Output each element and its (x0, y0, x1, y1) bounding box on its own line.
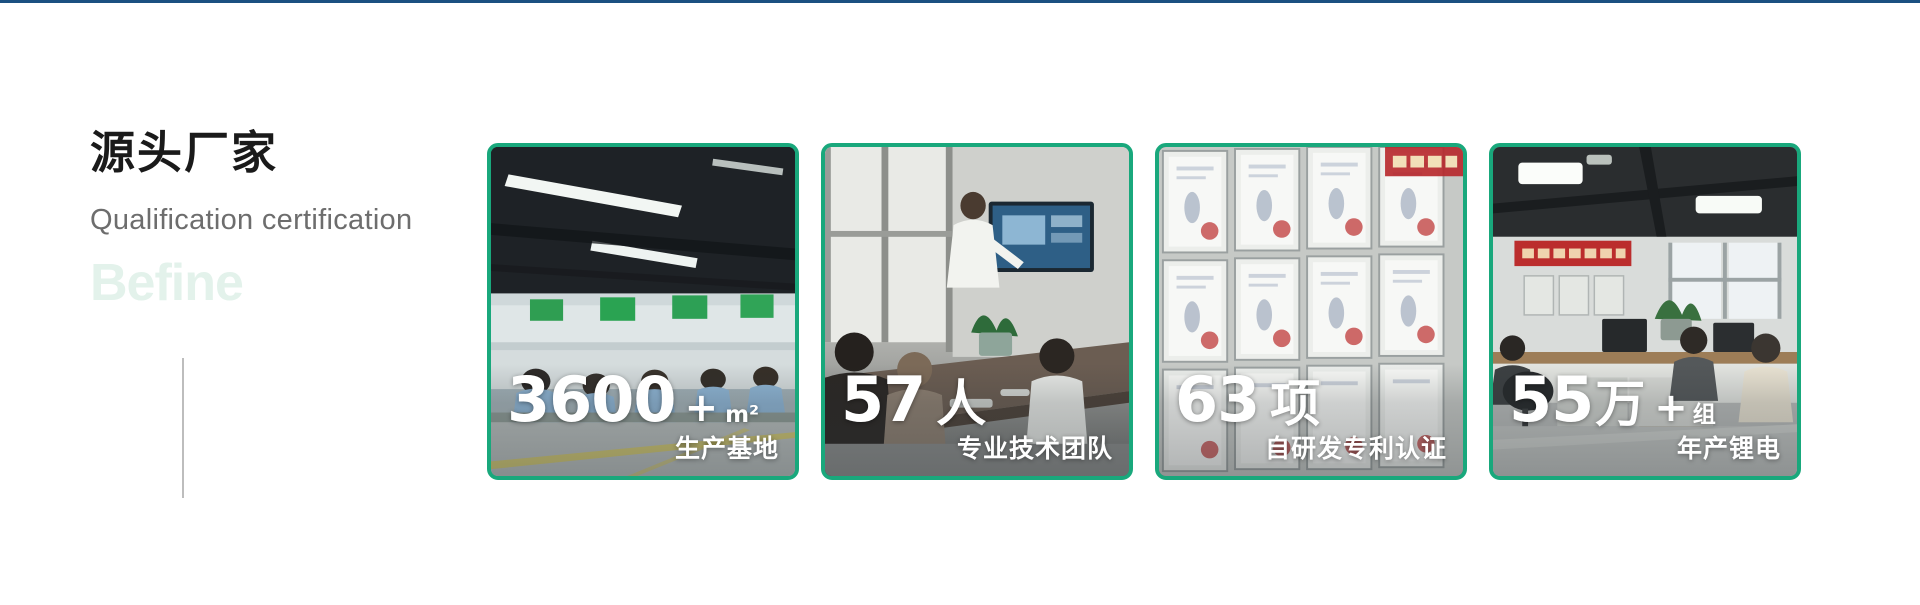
stat-number: 3600 (507, 369, 676, 431)
qualification-certification-banner: 源头厂家 Qualification certification Befine (0, 0, 1920, 605)
stat-block: 3600 + m² 生产基地 (491, 369, 795, 463)
stat-caption: 生产基地 (507, 435, 779, 463)
stat-unit: 人 (936, 379, 986, 429)
stat-card-patent-certifications[interactable]: 63 项 自研发专利认证 (1155, 143, 1467, 480)
stat-block: 63 项 自研发专利认证 (1159, 369, 1463, 463)
stat-card-annual-battery-output[interactable]: 55 万 + 组 年产锂电 (1489, 143, 1801, 480)
top-accent-rule (0, 0, 1920, 3)
stat-card-production-base[interactable]: 3600 + m² 生产基地 (487, 143, 799, 480)
left-text-block: 源头厂家 Qualification certification Befine (90, 125, 470, 311)
stat-superscript: m² (725, 404, 759, 431)
page-subtitle: Qualification certification (90, 203, 470, 238)
stat-superscript: 组 (1693, 404, 1716, 431)
page-title: 源头厂家 (90, 125, 470, 181)
stat-plus-sign: + (1654, 388, 1688, 428)
stat-number: 63 (1175, 369, 1259, 431)
stat-caption: 专业技术团队 (841, 435, 1113, 463)
stat-block: 57 人 专业技术团队 (825, 369, 1129, 463)
stat-unit: 项 (1270, 379, 1320, 429)
stat-card-technical-team[interactable]: 57 人 专业技术团队 (821, 143, 1133, 480)
stat-caption: 年产锂电 (1509, 435, 1781, 463)
stat-unit: 万 (1595, 379, 1645, 429)
stat-number: 57 (841, 369, 925, 431)
stat-caption: 自研发专利认证 (1175, 435, 1447, 463)
vertical-divider (182, 358, 184, 498)
stats-card-row: 3600 + m² 生产基地 (487, 143, 1801, 480)
stat-block: 55 万 + 组 年产锂电 (1493, 369, 1797, 463)
brand-watermark: Befine (90, 256, 470, 311)
stat-number: 55 (1509, 369, 1593, 431)
stat-plus-sign: + (685, 388, 719, 428)
